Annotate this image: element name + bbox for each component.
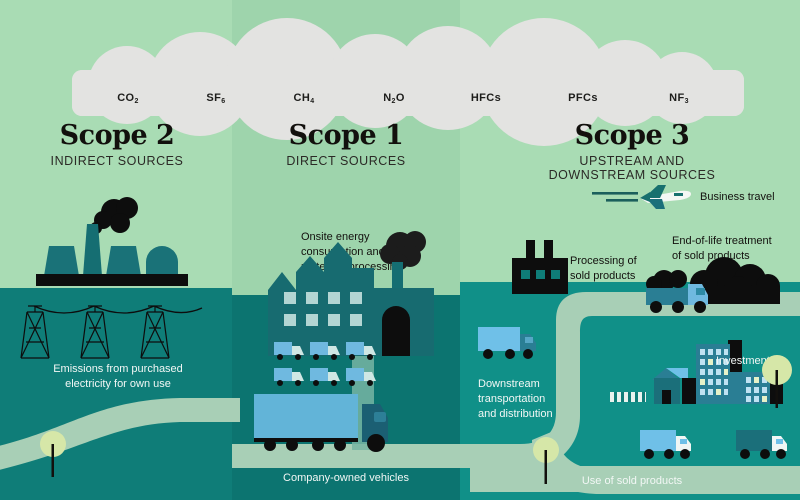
infographic-canvas: CO2 SF6 CH4 N2O HFCs PFCs NF3 Scope 2 IN…: [0, 0, 800, 500]
gas-nf3: NF3: [669, 92, 689, 104]
delivery-van-icon: [274, 368, 304, 386]
delivery-truck-icon: [736, 428, 800, 466]
transmission-pylon-icon: [81, 306, 109, 358]
scope-3-heading: Scope 3 UPSTREAM AND DOWNSTREAM SOURCES: [548, 122, 716, 182]
downstream-transport-label: Downstream transportation and distributi…: [478, 377, 553, 422]
delivery-van-icon: [346, 368, 376, 386]
scope-3-title: Scope 3: [548, 122, 716, 149]
delivery-van-icon: [310, 342, 340, 360]
scope-2-heading: Scope 2 INDIRECT SOURCES: [51, 122, 184, 168]
scope-2-title: Scope 2: [51, 122, 184, 149]
house-icon: [652, 368, 696, 404]
greenhouse-gases-cloud: CO2 SF6 CH4 N2O HFCs PFCs NF3: [60, 18, 760, 108]
scope-1-subtitle: DIRECT SOURCES: [286, 154, 405, 168]
transmission-pylon-group: [28, 296, 208, 366]
gas-co2: CO2: [117, 92, 139, 104]
tree-icon: [38, 430, 68, 480]
processing-sold-products-label: Processing of sold products: [570, 254, 637, 284]
delivery-van-icon: [346, 342, 376, 360]
business-travel-label: Business travel: [700, 190, 775, 205]
scope-3-subtitle: UPSTREAM AND DOWNSTREAM SOURCES: [548, 154, 716, 182]
power-plant-icon: [28, 198, 218, 298]
gas-hfcs: HFCs: [471, 92, 501, 104]
cloud-base-strip: [72, 70, 744, 116]
delivery-van-icon: [274, 342, 304, 360]
company-owned-vehicles-label: Company-owned vehicles: [283, 471, 409, 486]
gas-n2o: N2O: [383, 92, 405, 104]
gas-pfcs: PFCs: [568, 92, 598, 104]
delivery-van-icon: [310, 368, 340, 386]
downstream-truck-icon: [478, 325, 550, 365]
gas-ch4: CH4: [294, 92, 315, 104]
emissions-purchased-electricity-label: Emissions from purchased electricity for…: [23, 362, 213, 392]
airplane-icon: [592, 182, 694, 212]
scope-1-heading: Scope 1 DIRECT SOURCES: [286, 122, 405, 168]
scope-1-title: Scope 1: [286, 122, 405, 149]
gas-sf6: SF6: [206, 92, 225, 104]
fence-icon: [610, 392, 646, 402]
tree-icon: [760, 354, 794, 410]
semi-truck-icon: [248, 392, 404, 454]
delivery-truck-icon: [640, 428, 710, 466]
tree-icon: [530, 436, 562, 486]
garbage-truck-icon: [638, 262, 798, 318]
transmission-pylon-icon: [141, 306, 169, 358]
delivery-van-group: [274, 338, 389, 390]
processing-factory-icon: [508, 240, 578, 296]
use-of-sold-products-label: Use of sold products: [582, 474, 682, 489]
scope-2-subtitle: INDIRECT SOURCES: [51, 154, 184, 168]
